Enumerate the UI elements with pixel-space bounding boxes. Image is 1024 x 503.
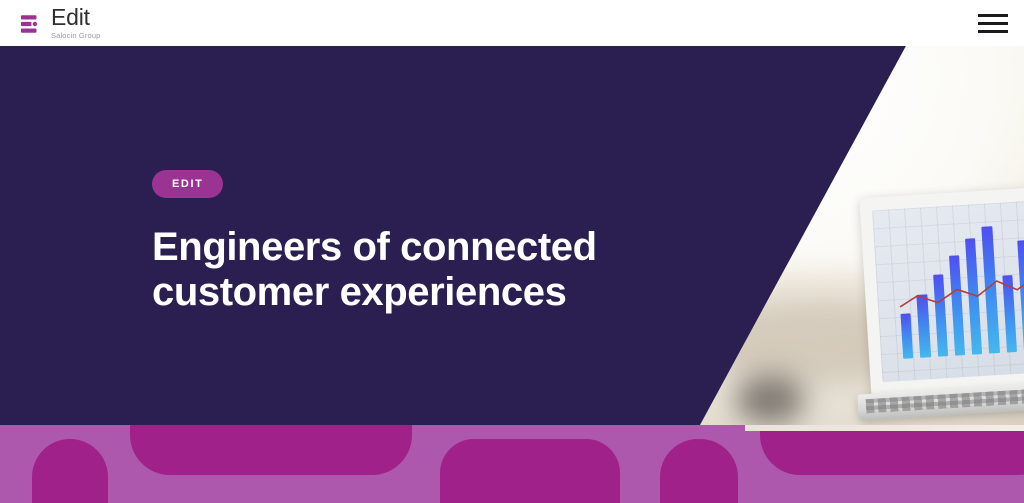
decorative-pattern-band — [0, 425, 1024, 503]
pattern-shape — [440, 439, 620, 503]
brand-tagline: Salocin Group — [51, 32, 100, 40]
hero-title: Engineers of connected customer experien… — [152, 225, 672, 315]
pattern-shape — [760, 425, 1024, 475]
laptop-lid — [859, 185, 1024, 398]
pattern-shape — [130, 425, 412, 475]
photo-blur-dark-object — [735, 376, 805, 424]
landing-page: Edit Salocin Group — [0, 0, 1024, 503]
chart-bar — [982, 226, 1000, 353]
laptop-screen — [872, 199, 1024, 383]
chart-bar — [917, 294, 931, 358]
menu-bar-1 — [978, 14, 1008, 17]
chart-bar — [933, 274, 948, 356]
chart-bar — [900, 313, 913, 358]
chart-bar — [1002, 275, 1017, 352]
edit-bars-logo-icon — [20, 13, 42, 35]
menu-bar-3 — [978, 30, 1008, 33]
hero-eyebrow-badge[interactable]: EDIT — [152, 170, 223, 198]
chart-bars — [895, 217, 1024, 359]
hero-section: EDIT Engineers of connected customer exp… — [0, 46, 1024, 425]
pattern-shape — [660, 439, 738, 503]
site-header: Edit Salocin Group — [0, 0, 1024, 46]
menu-bar-2 — [978, 22, 1008, 25]
pattern-shape — [32, 439, 108, 503]
brand-name: Edit — [51, 6, 90, 29]
brand-text: Edit Salocin Group — [51, 6, 100, 40]
chart-bar — [1017, 240, 1024, 351]
brand-logo-link[interactable]: Edit Salocin Group — [20, 6, 100, 40]
hero-content: EDIT Engineers of connected customer exp… — [152, 170, 712, 315]
chart-bar — [949, 255, 965, 356]
photo-bottom-sliver — [745, 425, 1024, 431]
laptop-device — [859, 184, 1024, 423]
hamburger-menu-icon[interactable] — [978, 8, 1008, 38]
chart-bar — [965, 238, 982, 355]
